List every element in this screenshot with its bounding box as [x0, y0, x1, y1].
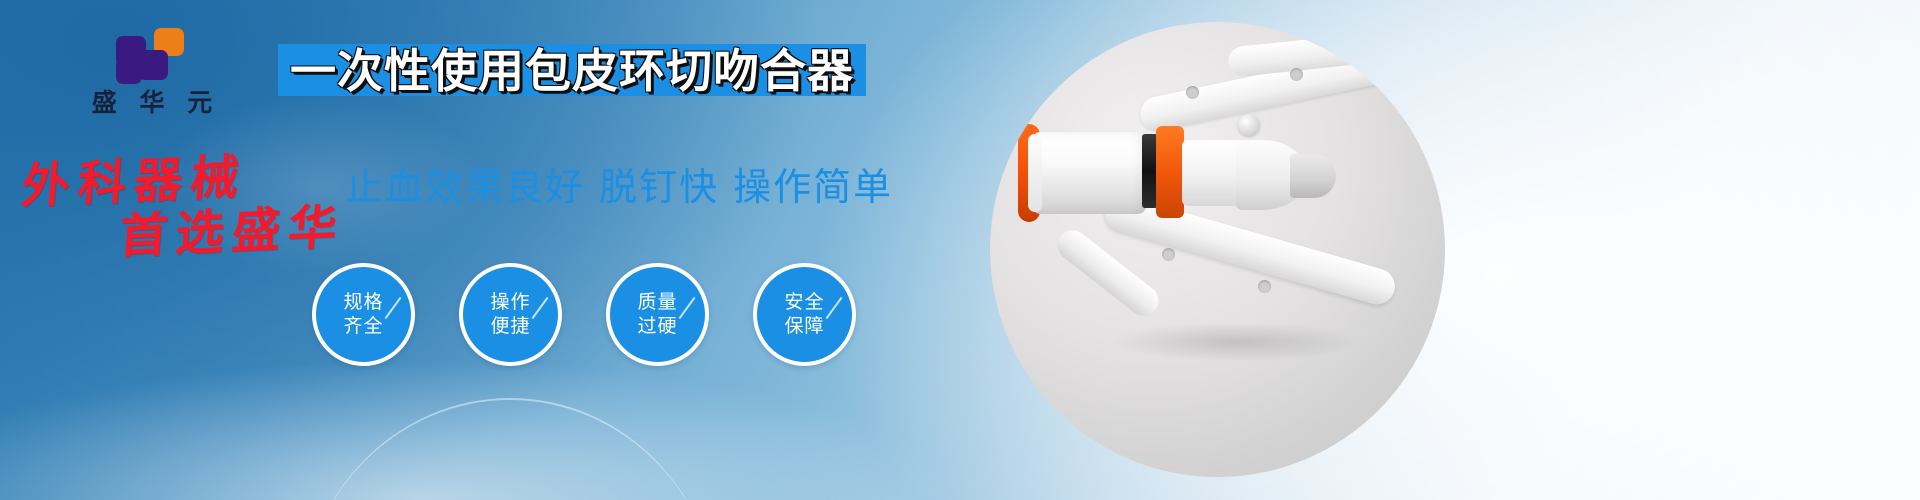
feature-4-line-2: 保障	[784, 315, 824, 338]
feature-1-line-2: 齐全	[343, 315, 383, 338]
slash-decor-icon	[679, 297, 696, 319]
main-title-bar: 一次性使用包皮环切吻合器	[278, 44, 866, 96]
page-title: 一次性使用包皮环切吻合器	[290, 48, 854, 94]
feature-2-line-2: 便捷	[490, 315, 530, 338]
product-photo	[990, 22, 1445, 477]
company-logo-icon	[116, 28, 188, 86]
feature-circle-1[interactable]: 规格 齐全	[312, 263, 415, 366]
feature-2-line-1: 操作	[490, 291, 530, 314]
background-glow-bottom	[0, 320, 1920, 500]
brand-name: 盛 华 元	[62, 90, 242, 115]
slash-decor-icon	[826, 297, 843, 319]
feature-circle-4[interactable]: 安全 保障	[753, 263, 856, 366]
feature-circle-3[interactable]: 质量 过硬	[606, 263, 709, 366]
feature-4-line-1: 安全	[784, 291, 824, 314]
subtitle: 止血效果良好 脱钉快 操作简单	[345, 165, 893, 211]
circumcision-stapler-photo	[990, 22, 1445, 477]
feature-3-line-2: 过硬	[637, 315, 677, 338]
feature-circle-2[interactable]: 操作 便捷	[459, 263, 562, 366]
slash-decor-icon	[532, 297, 549, 319]
calligraphy-line-2: 首选盛华	[118, 203, 347, 261]
promo-banner: 盛 华 元 外科器械 首选盛华 一次性使用包皮环切吻合器 止血效果良好 脱钉快 …	[0, 0, 1920, 500]
feature-3-line-1: 质量	[637, 291, 677, 314]
brand-logo-block[interactable]: 盛 华 元	[62, 28, 242, 115]
slash-decor-icon	[385, 297, 402, 319]
feature-circle-list: 规格 齐全 操作 便捷 质量 过硬 安全 保障	[312, 263, 856, 366]
feature-1-line-1: 规格	[343, 291, 383, 314]
background-arc	[300, 398, 720, 500]
calligraphy-line-1: 外科器械	[20, 153, 249, 211]
